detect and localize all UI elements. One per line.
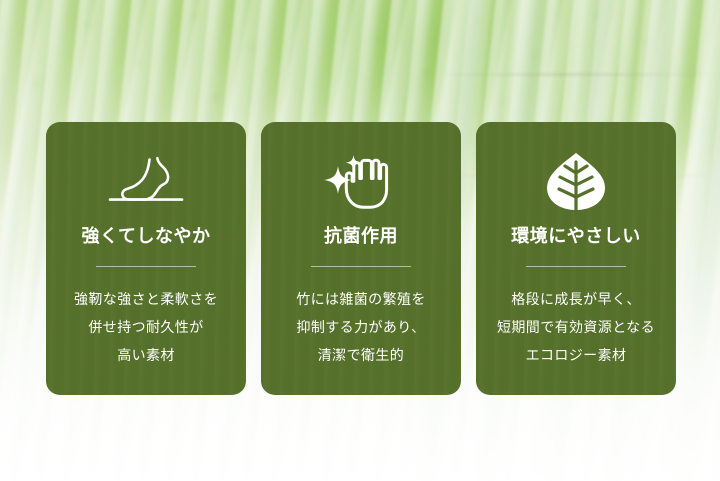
body-line: 竹には雑菌の繁殖を — [296, 285, 426, 313]
feature-card-title: 強くてしなやか — [82, 226, 211, 248]
foot-icon — [108, 148, 184, 220]
body-line: 強靭な強さと柔軟さを — [74, 285, 218, 313]
title-divider — [526, 266, 626, 267]
body-line: 短期間で有効資源となる — [497, 313, 655, 341]
title-divider — [96, 266, 196, 267]
body-line: 併せ持つ耐久性が — [74, 313, 218, 341]
title-divider — [311, 266, 411, 267]
feature-card-body: 竹には雑菌の繁殖を 抑制する力があり、 清潔で衛生的 — [296, 285, 426, 369]
feature-card-body: 強靭な強さと柔軟さを 併せ持つ耐久性が 高い素材 — [74, 285, 218, 369]
body-line: エコロジー素材 — [497, 341, 655, 369]
sparkling-hand-icon — [322, 148, 400, 220]
feature-cards-banner: 強くてしなやか 強靭な強さと柔軟さを 併せ持つ耐久性が 高い素材 抗菌 — [0, 0, 720, 481]
feature-card-antibacterial[interactable]: 抗菌作用 竹には雑菌の繁殖を 抑制する力があり、 清潔で衛生的 — [261, 122, 461, 395]
feature-card-title: 抗菌作用 — [324, 226, 398, 248]
feature-card-title: 環境にやさしい — [511, 226, 641, 248]
feature-card-body: 格段に成長が早く、 短期間で有効資源となる エコロジー素材 — [497, 285, 655, 369]
body-line: 清潔で衛生的 — [296, 341, 426, 369]
feature-card-eco[interactable]: 環境にやさしい 格段に成長が早く、 短期間で有効資源となる エコロジー素材 — [476, 122, 676, 395]
body-line: 格段に成長が早く、 — [497, 285, 655, 313]
feature-card-list: 強くてしなやか 強靭な強さと柔軟さを 併せ持つ耐久性が 高い素材 抗菌 — [46, 122, 676, 395]
body-line: 抑制する力があり、 — [296, 313, 426, 341]
leaf-icon — [545, 148, 607, 220]
body-line: 高い素材 — [74, 341, 218, 369]
feature-card-strength[interactable]: 強くてしなやか 強靭な強さと柔軟さを 併せ持つ耐久性が 高い素材 — [46, 122, 246, 395]
